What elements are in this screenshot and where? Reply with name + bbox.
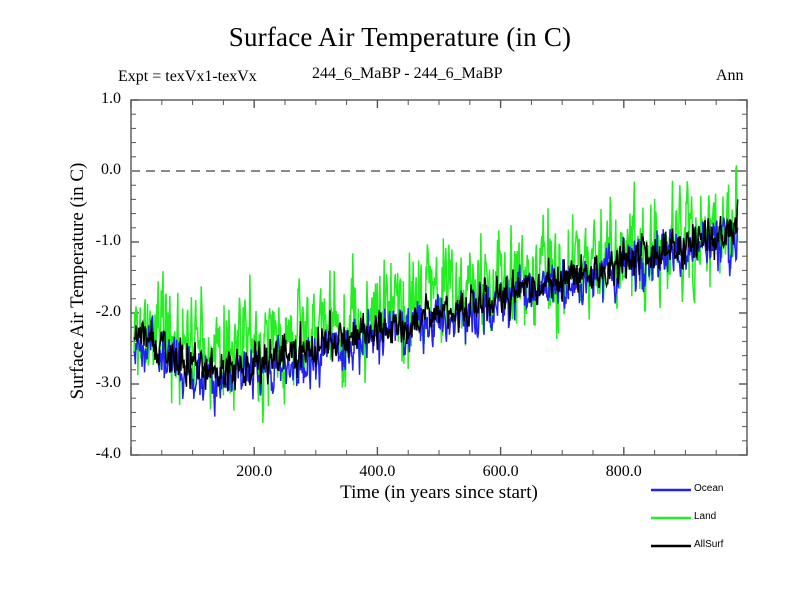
legend-label-land: Land [694,511,716,522]
plot-frame [131,100,747,455]
legend-label-allsurf: AllSurf [694,539,723,550]
chart-figure: Surface Air Temperature (in C) Expt = te… [0,0,800,600]
axis-ticks [131,100,747,455]
plot-canvas [0,0,800,600]
legend-label-ocean: Ocean [694,483,723,494]
